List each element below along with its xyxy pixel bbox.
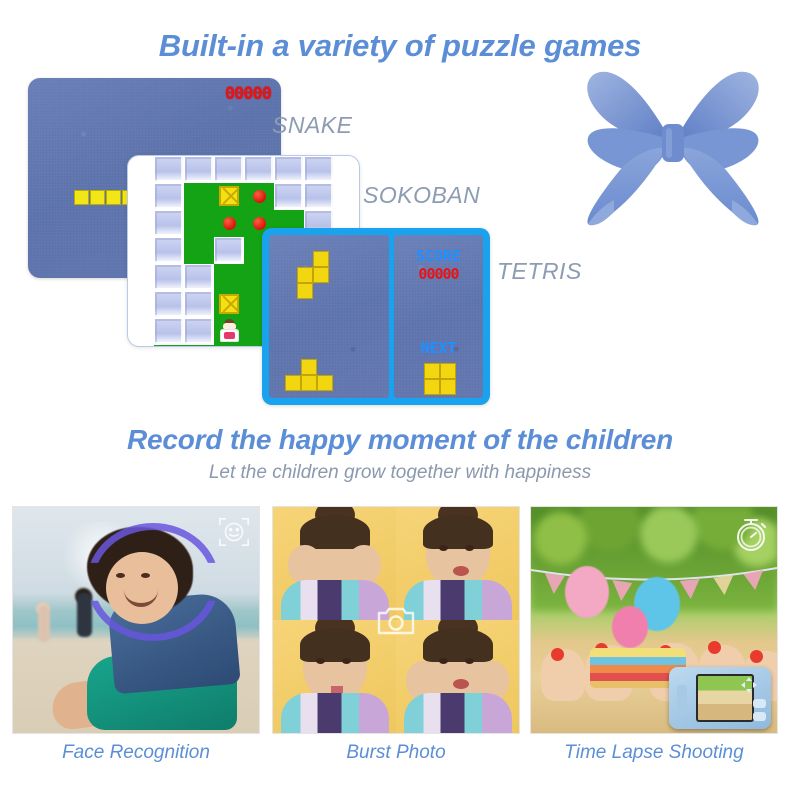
clown-nose bbox=[708, 641, 721, 654]
section-subtitle: Let the children grow together with happ… bbox=[0, 462, 800, 484]
sokoban-player-cell bbox=[214, 318, 244, 345]
section-title-record: Record the happy moment of the children bbox=[0, 424, 800, 456]
tetris-block bbox=[301, 359, 317, 375]
sokoban-wall bbox=[154, 210, 184, 237]
sokoban-wall bbox=[154, 264, 184, 291]
player-scarf bbox=[224, 332, 235, 339]
camera-button bbox=[753, 699, 766, 708]
sokoban-target-cell bbox=[214, 210, 244, 237]
party-scene bbox=[531, 507, 777, 733]
sokoban-crate bbox=[219, 294, 239, 314]
sokoban-wall bbox=[184, 156, 214, 183]
camera-button bbox=[753, 712, 766, 721]
girl-mouth bbox=[453, 679, 469, 689]
sokoban-wall bbox=[184, 264, 214, 291]
sokoban-wall bbox=[184, 318, 214, 345]
sokoban-wall bbox=[154, 291, 184, 318]
game-label-tetris: TETRIS bbox=[497, 258, 582, 285]
girl-hair bbox=[423, 628, 493, 662]
snake-segment bbox=[74, 190, 89, 205]
sokoban-wall bbox=[274, 156, 304, 183]
photo-face-recognition bbox=[12, 506, 260, 734]
sokoban-floor bbox=[184, 237, 214, 264]
photo-time-lapse bbox=[530, 506, 778, 734]
background-person bbox=[77, 593, 92, 637]
sokoban-crate bbox=[219, 186, 239, 206]
background-person bbox=[38, 606, 50, 642]
girl-torso bbox=[404, 580, 512, 620]
sokoban-wall bbox=[154, 156, 184, 183]
balloon bbox=[612, 606, 648, 648]
tetris-next-block bbox=[440, 379, 456, 395]
clown-nose bbox=[551, 648, 564, 661]
snake-score-value: 00000 bbox=[225, 84, 271, 104]
sokoban-target-dot bbox=[253, 217, 266, 230]
game-screen-tetris: SCORE 00000 NEXT bbox=[262, 228, 490, 405]
kids-camera-device bbox=[669, 667, 771, 729]
tetris-score-label: SCORE bbox=[394, 247, 483, 265]
tetris-block bbox=[297, 283, 313, 299]
girl-mouth bbox=[453, 566, 469, 576]
tetris-block bbox=[317, 375, 333, 391]
sokoban-floor bbox=[184, 183, 214, 210]
snake-segment bbox=[106, 190, 121, 205]
sokoban-wall bbox=[154, 318, 184, 345]
feature-photo-row bbox=[0, 506, 800, 740]
dpad-icon bbox=[741, 677, 757, 693]
sokoban-wall bbox=[214, 237, 244, 264]
sokoban-floor bbox=[214, 264, 244, 291]
sokoban-player bbox=[220, 319, 239, 344]
caption-time-lapse: Time Lapse Shooting bbox=[530, 742, 778, 764]
sokoban-floor bbox=[184, 210, 214, 237]
sokoban-wall bbox=[154, 237, 184, 264]
ribbon-bow-icon bbox=[562, 62, 784, 242]
tetris-block bbox=[301, 375, 317, 391]
tetris-block bbox=[297, 267, 313, 283]
sokoban-crate-cell bbox=[214, 291, 244, 318]
tetris-score-value: 00000 bbox=[394, 265, 483, 283]
page-title: Built-in a variety of puzzle games bbox=[0, 28, 800, 64]
girl-torso bbox=[281, 580, 389, 620]
sokoban-wall bbox=[154, 183, 184, 210]
tetris-next-block bbox=[424, 379, 440, 395]
tetris-block bbox=[313, 267, 329, 283]
photo-burst bbox=[272, 506, 520, 734]
balloon bbox=[565, 566, 609, 618]
caption-face-recognition: Face Recognition bbox=[12, 742, 260, 764]
girl-hair bbox=[423, 515, 493, 549]
tetris-playfield bbox=[269, 235, 389, 398]
sokoban-wall bbox=[214, 156, 244, 183]
camera-side-grip bbox=[677, 685, 687, 709]
tetris-next-block bbox=[424, 363, 440, 379]
game-label-snake: SNAKE bbox=[272, 112, 352, 139]
promo-page: Built-in a variety of puzzle games 00000… bbox=[0, 0, 800, 800]
caption-burst-photo: Burst Photo bbox=[272, 742, 520, 764]
girl-torso bbox=[404, 693, 512, 733]
clown-nose bbox=[750, 650, 763, 663]
stopwatch-icon bbox=[733, 515, 769, 553]
sokoban-wall bbox=[304, 156, 334, 183]
sokoban-wall bbox=[304, 183, 334, 210]
sokoban-wall bbox=[244, 156, 274, 183]
tetris-screen-texture bbox=[269, 235, 389, 398]
girl-hair bbox=[300, 515, 370, 549]
sokoban-wall bbox=[184, 291, 214, 318]
tetris-side-panel: SCORE 00000 NEXT bbox=[394, 235, 483, 398]
face-detect-smiley-icon bbox=[217, 515, 251, 549]
tetris-next-label: NEXT bbox=[394, 339, 483, 357]
tetris-block bbox=[285, 375, 301, 391]
girl-hair bbox=[300, 628, 370, 662]
game-label-sokoban: SOKOBAN bbox=[363, 182, 480, 209]
sokoban-target-dot bbox=[223, 217, 236, 230]
camera-icon bbox=[376, 603, 416, 637]
sokoban-crate-cell bbox=[214, 183, 244, 210]
snake-segment bbox=[90, 190, 105, 205]
tetris-next-block bbox=[440, 363, 456, 379]
tetris-block bbox=[313, 251, 329, 267]
sokoban-target-cell bbox=[244, 183, 274, 210]
girl-torso bbox=[281, 693, 389, 733]
sokoban-target-dot bbox=[253, 190, 266, 203]
sokoban-wall bbox=[274, 183, 304, 210]
